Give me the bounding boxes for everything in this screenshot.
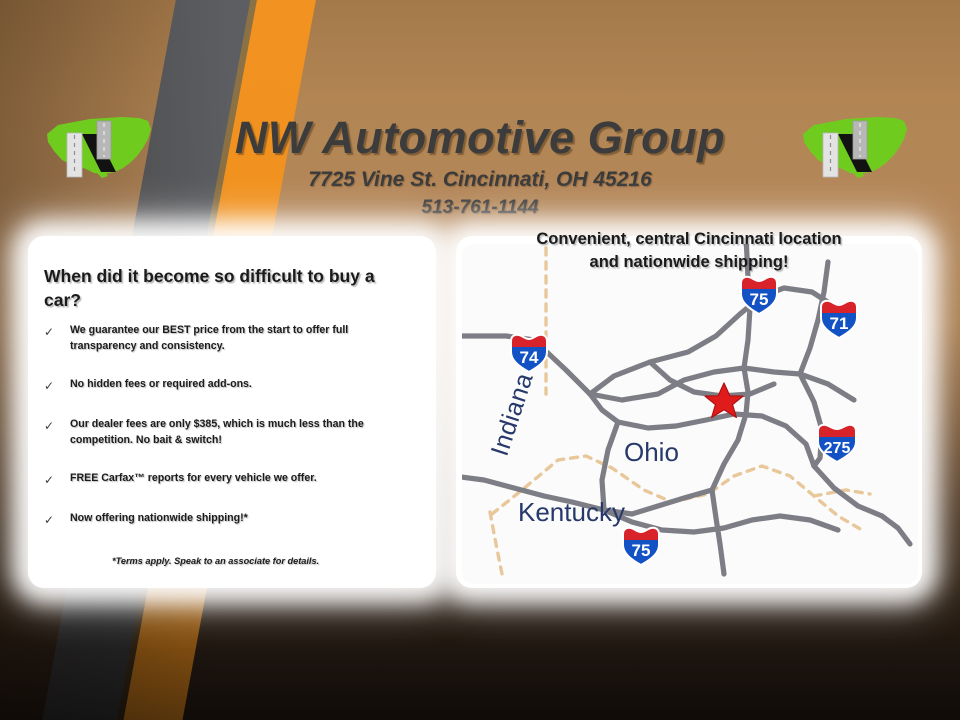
map-graphic	[462, 244, 918, 584]
features-list: ✓ We guarantee our BEST price from the s…	[44, 323, 412, 552]
check-icon: ✓	[44, 471, 70, 489]
list-item: ✓ We guarantee our BEST price from the s…	[44, 323, 412, 355]
state-label-kentucky: Kentucky	[518, 497, 625, 528]
list-item: ✓ Now offering nationwide shipping!*	[44, 511, 412, 529]
shield-route-number: 74	[520, 348, 539, 367]
shield-route-number: 75	[750, 290, 769, 309]
map-caption-line1: Convenient, central Cincinnati location	[456, 228, 922, 251]
terms-footnote: *Terms apply. Speak to an associate for …	[112, 556, 319, 566]
list-item-label: FREE Carfax™ reports for every vehicle w…	[70, 471, 412, 489]
list-item: ✓ Our dealer fees are only $385, which i…	[44, 417, 412, 449]
company-phone: 513-761-1144	[0, 197, 960, 219]
shield-i74: 74	[506, 330, 552, 381]
shield-route-number: 275	[824, 440, 851, 457]
regional-map	[462, 244, 918, 584]
shield-i275: 275	[812, 420, 862, 471]
map-caption: Convenient, central Cincinnati location …	[456, 228, 922, 275]
shield-i75-north: 75	[736, 272, 782, 323]
shield-route-number: 75	[632, 541, 651, 560]
list-item: ✓ FREE Carfax™ reports for every vehicle…	[44, 471, 412, 489]
check-icon: ✓	[44, 377, 70, 395]
check-icon: ✓	[44, 417, 70, 449]
list-item-label: No hidden fees or required add-ons.	[70, 377, 412, 395]
shield-i75-south: 75	[618, 523, 664, 574]
list-item-label: Our dealer fees are only $385, which is …	[70, 417, 412, 449]
features-heading: When did it become so difficult to buy a…	[44, 264, 408, 312]
check-icon: ✓	[44, 511, 70, 529]
shield-route-number: 71	[830, 314, 849, 333]
list-item-label: We guarantee our BEST price from the sta…	[70, 323, 412, 355]
company-title: NW Automotive Group	[0, 112, 960, 164]
company-address: 7725 Vine St. Cincinnati, OH 45216	[0, 168, 960, 192]
state-label-ohio: Ohio	[624, 437, 679, 468]
shield-i71: 71	[816, 296, 862, 347]
list-item-label: Now offering nationwide shipping!*	[70, 511, 412, 529]
list-item: ✓ No hidden fees or required add-ons.	[44, 377, 412, 395]
map-caption-line2: and nationwide shipping!	[456, 251, 922, 274]
slide-canvas: NW Automotive Group 7725 Vine St. Cincin…	[0, 0, 960, 720]
check-icon: ✓	[44, 323, 70, 355]
